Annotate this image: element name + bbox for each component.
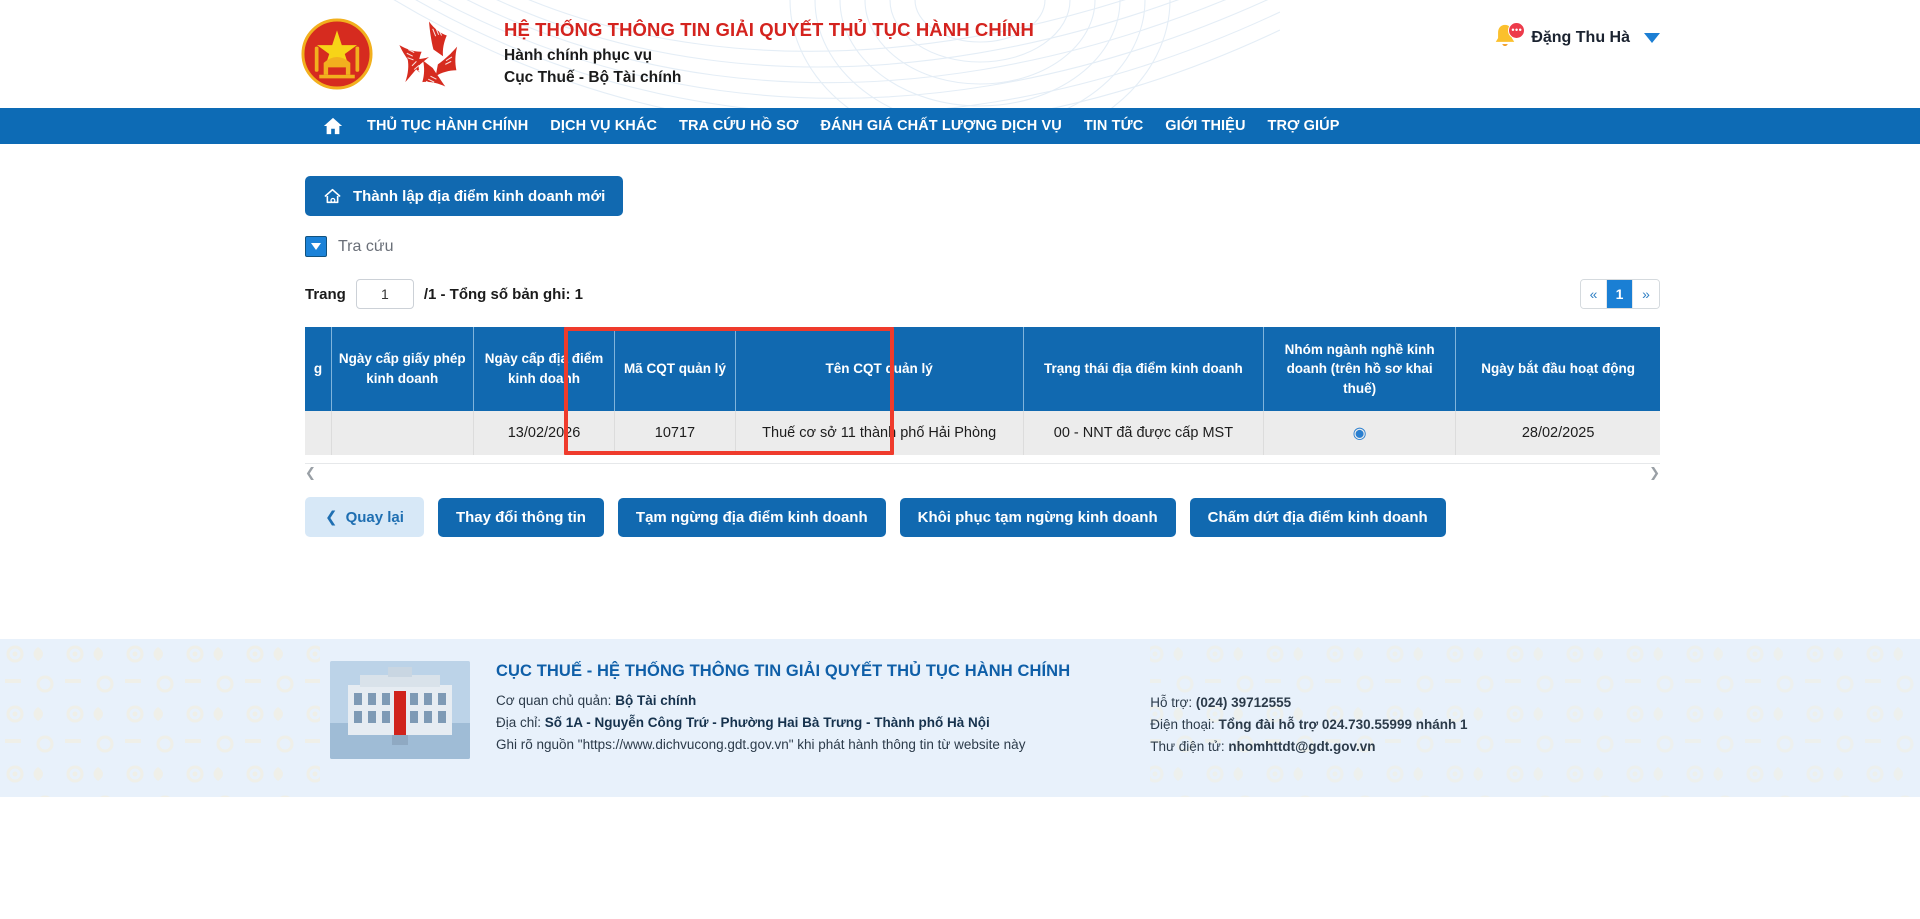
- tax-department-building-image: [330, 661, 470, 759]
- action-buttons-row: ❮ Quay lại Thay đổi thông tin Tạm ngừng …: [305, 497, 1660, 537]
- page-label: Trang: [305, 286, 346, 303]
- user-menu[interactable]: ••• Đặng Thu Hà: [1491, 22, 1660, 54]
- footer-org-value: Bộ Tài chính: [615, 693, 696, 708]
- site-title: HỆ THỐNG THÔNG TIN GIẢI QUYẾT THỦ TỤC HÀ…: [504, 18, 1034, 41]
- footer-left-column: CỤC THUẾ - HỆ THỐNG THÔNG TIN GIẢI QUYẾT…: [496, 662, 1070, 756]
- footer-source-note: Ghi rõ nguồn "https://www.dichvucong.gdt…: [496, 734, 1070, 756]
- site-subtitle-2: Cục Thuế - Bộ Tài chính: [504, 67, 1034, 89]
- column-header-ma-cqt[interactable]: Mã CQT quản lý: [615, 327, 735, 411]
- pager-last-button[interactable]: »: [1633, 280, 1659, 308]
- footer-phone-value: Tổng đài hỗ trợ 024.730.55999 nhánh 1: [1219, 717, 1468, 732]
- cell-trang-thai: 00 - NNT đã được cấp MST: [1023, 411, 1263, 455]
- footer-support-value: (024) 39712555: [1196, 695, 1291, 710]
- cell-ngay-cap-dia-diem: 13/02/2026: [473, 411, 615, 455]
- header-text-block: HỆ THỐNG THÔNG TIN GIẢI QUYẾT THỦ TỤC HÀ…: [504, 18, 1034, 89]
- column-header-nhom-nganh-nghe[interactable]: Nhóm ngành nghề kinh doanh (trên hồ sơ k…: [1264, 327, 1456, 411]
- triangle-down-icon: [305, 236, 327, 257]
- service-hands-logo-icon: [390, 17, 468, 91]
- footer-org-label: Cơ quan chủ quản:: [496, 693, 611, 708]
- column-header-partial[interactable]: g: [305, 327, 331, 411]
- eye-icon[interactable]: ◉: [1353, 425, 1367, 442]
- nav-item-tin-tuc[interactable]: TIN TỨC: [1073, 108, 1154, 144]
- footer-email-line: Thư điện tử: nhomhttdt@gdt.gov.vn: [1150, 736, 1467, 758]
- cell-ngay-bat-dau: 28/02/2025: [1456, 411, 1660, 455]
- footer-address-line: Địa chỉ: Số 1A - Nguyễn Công Trứ - Phườn…: [496, 712, 1070, 734]
- nav-item-tro-giup[interactable]: TRỢ GIÚP: [1257, 108, 1351, 144]
- cell-ngay-cap-giay-phep: [331, 411, 473, 455]
- create-button-label: Thành lập địa điểm kinh doanh mới: [353, 188, 605, 205]
- suspend-location-button[interactable]: Tạm ngừng địa điểm kinh doanh: [618, 498, 886, 537]
- footer-phone-label: Điện thoại:: [1150, 717, 1215, 732]
- site-subtitle-1: Hành chính phục vụ: [504, 45, 1034, 67]
- footer-address-label: Địa chỉ:: [496, 715, 541, 730]
- pager-page-1[interactable]: 1: [1607, 280, 1633, 308]
- column-header-ngay-cap-dia-diem[interactable]: Ngày cấp địa điểm kinh doanh: [473, 327, 615, 411]
- back-button[interactable]: ❮ Quay lại: [305, 497, 424, 537]
- restore-suspension-button[interactable]: Khôi phục tạm ngừng kinh doanh: [900, 498, 1176, 537]
- footer-right-column: Hỗ trợ: (024) 39712555 Điện thoại: Tổng …: [1150, 662, 1467, 758]
- column-header-trang-thai[interactable]: Trạng thái địa điểm kinh doanh: [1023, 327, 1263, 411]
- column-header-ten-cqt[interactable]: Tên CQT quản lý: [735, 327, 1023, 411]
- nav-item-danh-gia-chat-luong-dich-vu[interactable]: ĐÁNH GIÁ CHẤT LƯỢNG DỊCH VỤ: [809, 108, 1072, 144]
- notification-badge: •••: [1508, 22, 1525, 39]
- back-button-label: Quay lại: [346, 509, 404, 526]
- nav-item-dich-vu-khac[interactable]: DỊCH VỤ KHÁC: [539, 108, 668, 144]
- main-navigation: THỦ TỤC HÀNH CHÍNH DỊCH VỤ KHÁC TRA CỨU …: [0, 108, 1920, 144]
- table-row[interactable]: 13/02/2026 10717 Thuế cơ sở 11 thành phố…: [305, 411, 1660, 455]
- cell-ma-cqt: 10717: [615, 411, 735, 455]
- cell-nhom-nganh-nghe: ◉: [1264, 411, 1456, 455]
- home-icon: [322, 116, 344, 136]
- home-add-icon: [323, 187, 342, 205]
- table-header-row: g Ngày cấp giấy phép kinh doanh Ngày cấp…: [305, 327, 1660, 411]
- column-header-ngay-cap-giay-phep[interactable]: Ngày cấp giấy phép kinh doanh: [331, 327, 473, 411]
- change-info-button[interactable]: Thay đổi thông tin: [438, 498, 604, 537]
- nav-item-thu-tuc-hanh-chinh[interactable]: THỦ TỤC HÀNH CHÍNH: [356, 108, 539, 144]
- notification-bell[interactable]: •••: [1491, 22, 1521, 54]
- column-header-ngay-bat-dau[interactable]: Ngày bắt đầu hoạt động: [1456, 327, 1660, 411]
- footer-support-label: Hỗ trợ:: [1150, 695, 1192, 710]
- footer-email-value: nhomhttdt@gdt.gov.vn: [1228, 739, 1375, 754]
- nav-home-button[interactable]: [310, 116, 356, 136]
- nav-item-tra-cuu-ho-so[interactable]: TRA CỨU HỒ SƠ: [668, 108, 809, 144]
- pagination-row: Trang /1 - Tổng số bản ghi: 1 « 1 »: [305, 279, 1660, 309]
- vietnam-emblem-icon: [300, 17, 374, 91]
- page-footer: CỤC THUẾ - HỆ THỐNG THÔNG TIN GIẢI QUYẾT…: [0, 639, 1920, 797]
- footer-phone-line: Điện thoại: Tổng đài hỗ trợ 024.730.5599…: [1150, 714, 1467, 736]
- footer-org-line: Cơ quan chủ quản: Bộ Tài chính: [496, 690, 1070, 712]
- nav-item-gioi-thieu[interactable]: GIỚI THIỆU: [1154, 108, 1256, 144]
- chevron-left-icon[interactable]: ❮: [305, 465, 316, 481]
- building-photo: [330, 661, 470, 759]
- main-content: Thành lập địa điểm kinh doanh mới Tra cứ…: [0, 144, 1920, 797]
- footer-support-line: Hỗ trợ: (024) 39712555: [1150, 692, 1467, 714]
- pager: « 1 »: [1580, 279, 1660, 309]
- search-toggle-label: Tra cứu: [338, 238, 393, 256]
- total-records-label: /1 - Tổng số bản ghi: 1: [424, 286, 583, 303]
- create-business-location-button[interactable]: Thành lập địa điểm kinh doanh mới: [305, 176, 623, 216]
- user-name-label: Đặng Thu Hà: [1531, 29, 1630, 47]
- chevron-left-icon: ❮: [325, 508, 338, 526]
- chevron-right-icon[interactable]: ❯: [1649, 465, 1660, 481]
- footer-title: CỤC THUẾ - HỆ THỐNG THÔNG TIN GIẢI QUYẾT…: [496, 662, 1070, 681]
- footer-address-value: Số 1A - Nguyễn Công Trứ - Phường Hai Bà …: [545, 715, 990, 730]
- results-table-container: g Ngày cấp giấy phép kinh doanh Ngày cấp…: [305, 327, 1660, 477]
- terminate-location-button[interactable]: Chấm dứt địa điểm kinh doanh: [1190, 498, 1446, 537]
- footer-email-label: Thư điện tử:: [1150, 739, 1224, 754]
- pager-first-button[interactable]: «: [1581, 280, 1607, 308]
- chevron-down-icon[interactable]: [1644, 33, 1660, 43]
- horizontal-scrollbar[interactable]: ❮ ❯: [305, 463, 1660, 477]
- search-panel-toggle[interactable]: Tra cứu: [305, 236, 1660, 257]
- page-header: HỆ THỐNG THÔNG TIN GIẢI QUYẾT THỦ TỤC HÀ…: [0, 0, 1920, 108]
- business-locations-table: g Ngày cấp giấy phép kinh doanh Ngày cấp…: [305, 327, 1660, 455]
- cell-ten-cqt: Thuế cơ sở 11 thành phố Hải Phòng: [735, 411, 1023, 455]
- page-number-input[interactable]: [356, 279, 414, 309]
- cell-partial: [305, 411, 331, 455]
